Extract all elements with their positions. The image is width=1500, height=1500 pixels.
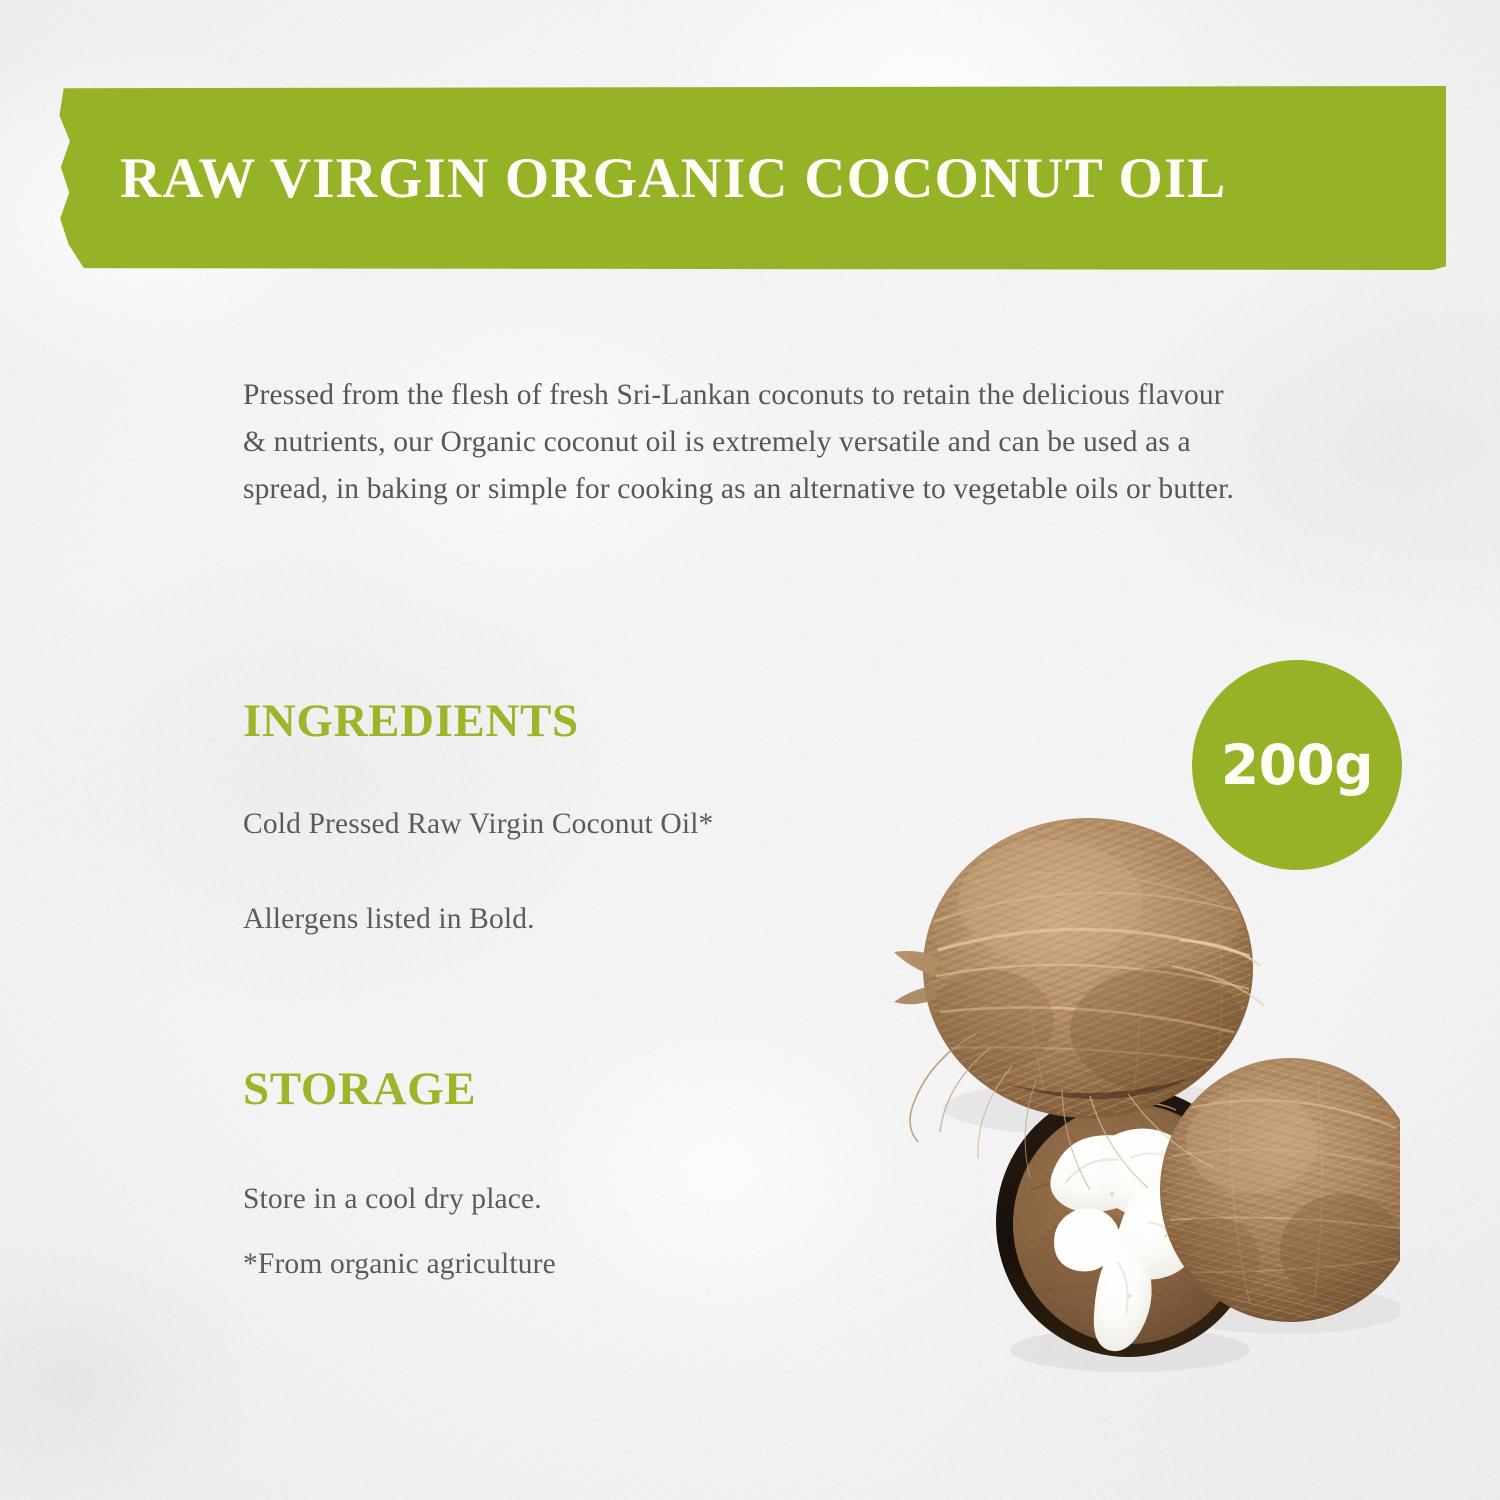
- coconut-illustration: [880, 790, 1400, 1380]
- page-title: RAW VIRGIN ORGANIC COCONUT OIL: [120, 86, 1227, 270]
- title-banner: RAW VIRGIN ORGANIC COCONUT OIL: [56, 86, 1446, 270]
- organic-footnote: *From organic agriculture: [243, 1248, 556, 1281]
- ingredients-heading: INGREDIENTS: [243, 694, 579, 748]
- product-info-panel: RAW VIRGIN ORGANIC COCONUT OIL Pressed f…: [0, 0, 1500, 1500]
- storage-instruction: Store in a cool dry place.: [243, 1183, 542, 1216]
- ingredients-item: Cold Pressed Raw Virgin Coconut Oil*: [243, 808, 713, 841]
- product-description: Pressed from the flesh of fresh Sri-Lank…: [243, 372, 1253, 513]
- storage-heading: STORAGE: [243, 1062, 476, 1116]
- weight-badge: 200g: [1192, 660, 1402, 870]
- allergen-note: Allergens listed in Bold.: [243, 903, 535, 936]
- coconut-photo: [880, 790, 1400, 1380]
- weight-badge-label: 200g: [1221, 738, 1373, 793]
